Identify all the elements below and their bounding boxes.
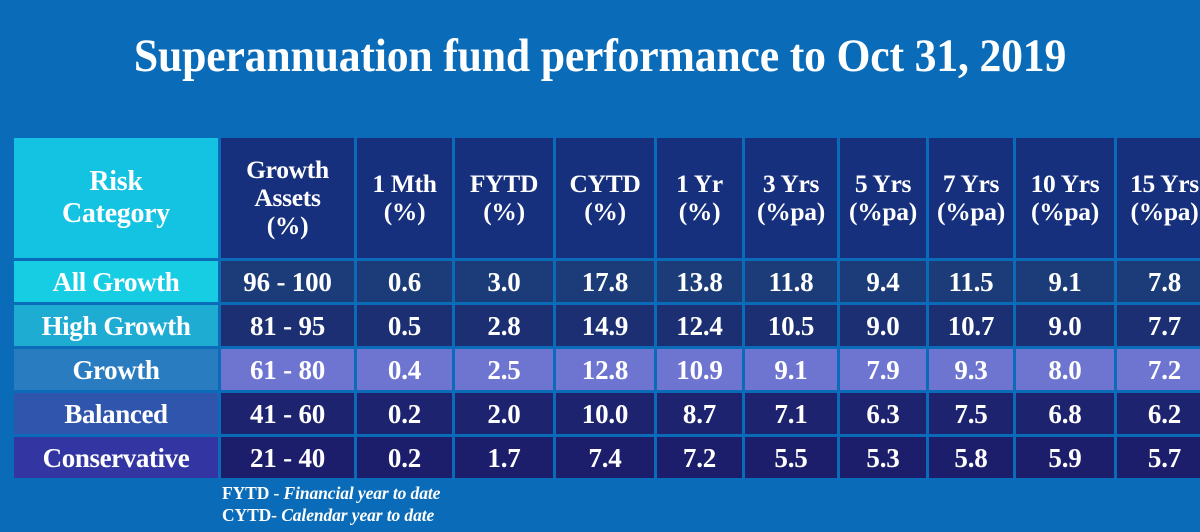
table-row: High Growth 81 - 95 0.5 2.8 14.9 12.4 10…	[14, 305, 1200, 346]
header-line2: (%pa)	[929, 198, 1013, 226]
header-line2: (%)	[657, 198, 742, 226]
risk-header-line1: Risk	[14, 166, 218, 198]
cell-cytd: 14.9	[556, 305, 654, 346]
table-header: Risk Category Growth Assets (%) 1 Mth (%…	[14, 138, 1200, 258]
cell-1-mth: 0.4	[357, 349, 452, 390]
header-line3: (%)	[221, 212, 354, 240]
cell-7-yrs: 9.3	[929, 349, 1013, 390]
cell-fytd: 3.0	[455, 261, 553, 302]
column-header-cytd: CYTD (%)	[556, 138, 654, 258]
column-header-15-yrs: 15 Yrs (%pa)	[1117, 138, 1200, 258]
cell-15-yrs: 6.2	[1117, 393, 1200, 434]
column-header-5-yrs: 5 Yrs (%pa)	[840, 138, 926, 258]
header-line1: 5 Yrs	[840, 170, 926, 198]
cell-growth-assets: 41 - 60	[221, 393, 354, 434]
header-line2: (%)	[455, 198, 553, 226]
cell-1-yr: 12.4	[657, 305, 742, 346]
table-body: All Growth 96 - 100 0.6 3.0 17.8 13.8 11…	[14, 261, 1200, 478]
cell-3-yrs: 9.1	[745, 349, 837, 390]
cell-cytd: 7.4	[556, 437, 654, 478]
header-line1: 7 Yrs	[929, 170, 1013, 198]
header-line1: 3 Yrs	[745, 170, 837, 198]
cell-cytd: 17.8	[556, 261, 654, 302]
header-line1: Growth	[221, 156, 354, 184]
header-line2: (%pa)	[840, 198, 926, 226]
column-header-fytd: FYTD (%)	[455, 138, 553, 258]
column-header-1-yr: 1 Yr (%)	[657, 138, 742, 258]
cell-3-yrs: 5.5	[745, 437, 837, 478]
footnote-abbr: CYTD-	[222, 505, 277, 525]
row-label-balanced: Balanced	[14, 393, 218, 434]
footnote-line-cytd: CYTD- Calendar year to date	[222, 504, 440, 526]
cell-growth-assets: 96 - 100	[221, 261, 354, 302]
cell-growth-assets: 81 - 95	[221, 305, 354, 346]
cell-7-yrs: 5.8	[929, 437, 1013, 478]
table-row: Growth 61 - 80 0.4 2.5 12.8 10.9 9.1 7.9…	[14, 349, 1200, 390]
table-row: All Growth 96 - 100 0.6 3.0 17.8 13.8 11…	[14, 261, 1200, 302]
cell-15-yrs: 7.8	[1117, 261, 1200, 302]
cell-10-yrs: 6.8	[1016, 393, 1114, 434]
cell-7-yrs: 7.5	[929, 393, 1013, 434]
footnote-legend: FYTD - Financial year to date CYTD- Cale…	[222, 482, 440, 526]
page-title: Superannuation fund performance to Oct 3…	[42, 28, 1158, 84]
table-row: Conservative 21 - 40 0.2 1.7 7.4 7.2 5.5…	[14, 437, 1200, 478]
cell-fytd: 1.7	[455, 437, 553, 478]
cell-7-yrs: 11.5	[929, 261, 1013, 302]
cell-15-yrs: 5.7	[1117, 437, 1200, 478]
cell-5-yrs: 9.0	[840, 305, 926, 346]
header-line1: 15 Yrs	[1117, 170, 1200, 198]
cell-1-yr: 8.7	[657, 393, 742, 434]
footnote-description: Financial year to date	[284, 483, 441, 503]
header-line2: (%pa)	[1117, 198, 1200, 226]
risk-header-line2: Category	[14, 198, 218, 230]
cell-7-yrs: 10.7	[929, 305, 1013, 346]
row-label-all-growth: All Growth	[14, 261, 218, 302]
cell-3-yrs: 10.5	[745, 305, 837, 346]
cell-growth-assets: 61 - 80	[221, 349, 354, 390]
header-line2: (%)	[357, 198, 452, 226]
cell-10-yrs: 8.0	[1016, 349, 1114, 390]
infographic-root: Superannuation fund performance to Oct 3…	[0, 0, 1200, 532]
row-label-growth: Growth	[14, 349, 218, 390]
cell-1-yr: 13.8	[657, 261, 742, 302]
cell-1-mth: 0.5	[357, 305, 452, 346]
cell-3-yrs: 11.8	[745, 261, 837, 302]
header-line2: Assets	[221, 184, 354, 212]
performance-table: Risk Category Growth Assets (%) 1 Mth (%…	[11, 135, 1200, 481]
cell-1-yr: 10.9	[657, 349, 742, 390]
cell-growth-assets: 21 - 40	[221, 437, 354, 478]
column-header-1-mth: 1 Mth (%)	[357, 138, 452, 258]
footnote-line-fytd: FYTD - Financial year to date	[222, 482, 440, 504]
header-line1: 1 Mth	[357, 170, 452, 198]
cell-1-mth: 0.2	[357, 393, 452, 434]
header-line1: 10 Yrs	[1016, 170, 1114, 198]
cell-5-yrs: 9.4	[840, 261, 926, 302]
header-line2: (%)	[556, 198, 654, 226]
column-header-3-yrs: 3 Yrs (%pa)	[745, 138, 837, 258]
cell-cytd: 10.0	[556, 393, 654, 434]
header-row: Risk Category Growth Assets (%) 1 Mth (%…	[14, 138, 1200, 258]
header-line1: FYTD	[455, 170, 553, 198]
column-header-risk-category: Risk Category	[14, 138, 218, 258]
cell-1-mth: 0.2	[357, 437, 452, 478]
table-row: Balanced 41 - 60 0.2 2.0 10.0 8.7 7.1 6.…	[14, 393, 1200, 434]
cell-5-yrs: 7.9	[840, 349, 926, 390]
cell-10-yrs: 9.0	[1016, 305, 1114, 346]
cell-fytd: 2.5	[455, 349, 553, 390]
cell-3-yrs: 7.1	[745, 393, 837, 434]
footnote-description: Calendar year to date	[281, 505, 434, 525]
header-line1: 1 Yr	[657, 170, 742, 198]
column-header-10-yrs: 10 Yrs (%pa)	[1016, 138, 1114, 258]
performance-table-container: Risk Category Growth Assets (%) 1 Mth (%…	[14, 138, 1186, 478]
cell-fytd: 2.0	[455, 393, 553, 434]
cell-5-yrs: 6.3	[840, 393, 926, 434]
row-label-conservative: Conservative	[14, 437, 218, 478]
cell-15-yrs: 7.2	[1117, 349, 1200, 390]
row-label-high-growth: High Growth	[14, 305, 218, 346]
cell-cytd: 12.8	[556, 349, 654, 390]
header-line2: (%pa)	[745, 198, 837, 226]
cell-5-yrs: 5.3	[840, 437, 926, 478]
footnote-abbr: FYTD -	[222, 483, 279, 503]
column-header-7-yrs: 7 Yrs (%pa)	[929, 138, 1013, 258]
cell-1-mth: 0.6	[357, 261, 452, 302]
cell-1-yr: 7.2	[657, 437, 742, 478]
header-line1: CYTD	[556, 170, 654, 198]
cell-fytd: 2.8	[455, 305, 553, 346]
header-line2: (%pa)	[1016, 198, 1114, 226]
cell-15-yrs: 7.7	[1117, 305, 1200, 346]
cell-10-yrs: 9.1	[1016, 261, 1114, 302]
column-header-growth-assets: Growth Assets (%)	[221, 138, 354, 258]
cell-10-yrs: 5.9	[1016, 437, 1114, 478]
